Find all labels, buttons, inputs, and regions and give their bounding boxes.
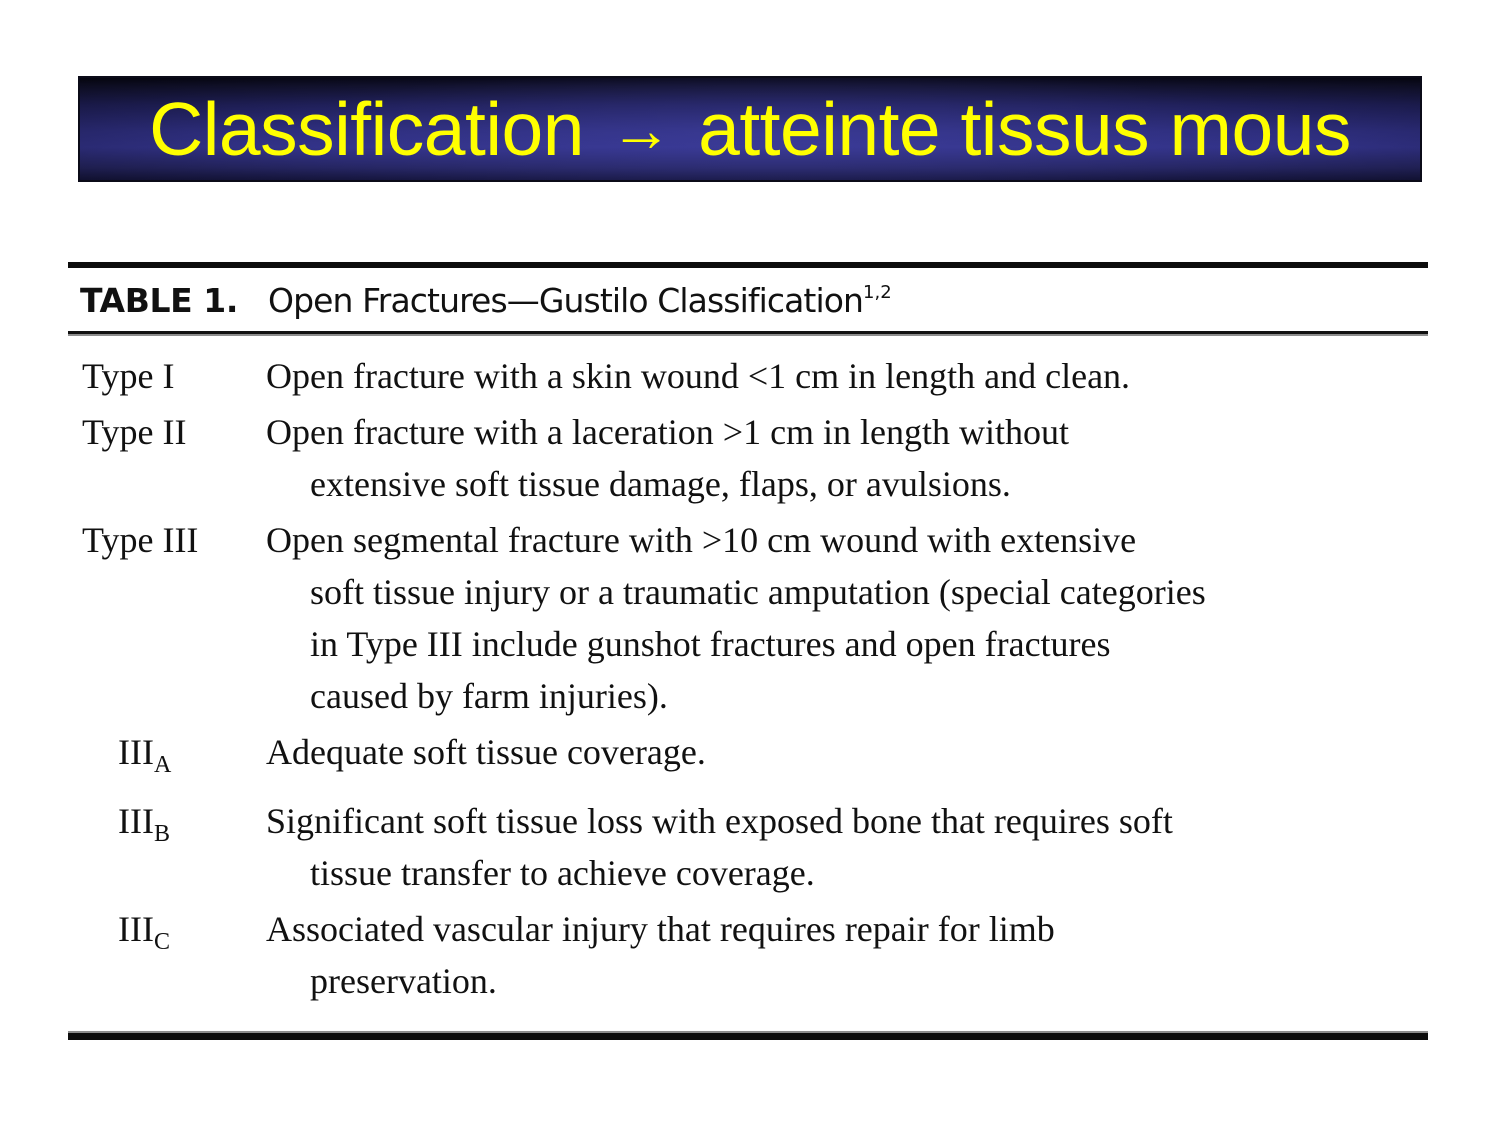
table-row-line: in Type III include gunshot fractures an… [266,618,1428,670]
title-text-after-arrow: atteinte tissus mous [698,87,1351,171]
title-text-before-arrow: Classification [149,87,584,171]
table-row-label-base: III [118,732,154,772]
table-row-label: Type I [68,350,266,402]
table-row-description: Adequate soft tissue coverage. [266,726,1428,778]
table-row-line: Open fracture with a skin wound <1 cm in… [266,350,1428,402]
table-row-label-subscript: C [154,929,170,955]
table-row-description: Associated vascular injury that requires… [266,903,1428,1007]
table-row-description: Open fracture with a laceration >1 cm in… [266,406,1428,510]
slide-title-banner: Classification → atteinte tissus mous [78,76,1422,182]
page-title: Classification → atteinte tissus mous [80,78,1420,182]
table-row-line: Adequate soft tissue coverage. [266,726,1428,778]
table-row-description: Open fracture with a skin wound <1 cm in… [266,350,1428,402]
table-row-line: Open fracture with a laceration >1 cm in… [266,406,1428,458]
table-row-line: Associated vascular injury that requires… [266,903,1428,955]
table-row: IIIC Associated vascular injury that req… [68,903,1428,1007]
table-row-label: IIIA [68,726,266,791]
table-body: Type I Open fracture with a skin wound <… [68,336,1428,1031]
table-row-line: caused by farm injuries). [266,670,1428,722]
table-row: Type II Open fracture with a laceration … [68,406,1428,510]
table-row-description: Open segmental fracture with >10 cm woun… [266,514,1428,722]
table-row: IIIB Significant soft tissue loss with e… [68,795,1428,899]
table-row: Type III Open segmental fracture with >1… [68,514,1428,722]
table-caption-title: Open Fractures—Gustilo Classification [268,281,863,320]
table-row: Type I Open fracture with a skin wound <… [68,350,1428,402]
table-row-label: IIIB [68,795,266,860]
table-row-label: IIIC [68,903,266,968]
table-row-label-subscript: B [154,821,170,847]
table-caption-label: TABLE 1. [80,281,238,320]
table-row-label-base: III [118,909,154,949]
table-row-description: Significant soft tissue loss with expose… [266,795,1428,899]
table-row-line: preservation. [266,955,1428,1007]
table-row-line: extensive soft tissue damage, flaps, or … [266,458,1428,510]
table-row-line: tissue transfer to achieve coverage. [266,847,1428,899]
table-caption-superscript: 1,2 [863,282,892,303]
table-row-label: Type III [68,514,266,566]
table-caption: TABLE 1.Open Fractures—Gustilo Classific… [68,268,1428,331]
table-row-label-base: III [118,801,154,841]
right-arrow-icon: → [604,96,678,165]
table-row-line: soft tissue injury or a traumatic amputa… [266,566,1428,618]
table-row: IIIA Adequate soft tissue coverage. [68,726,1428,791]
table-row-label-subscript: A [154,752,171,778]
table-row-line: Significant soft tissue loss with expose… [266,795,1428,847]
table-row-label: Type II [68,406,266,458]
table-bottom-rule [68,1033,1428,1040]
gustilo-classification-table: TABLE 1.Open Fractures—Gustilo Classific… [68,262,1428,1040]
table-row-line: Open segmental fracture with >10 cm woun… [266,514,1428,566]
